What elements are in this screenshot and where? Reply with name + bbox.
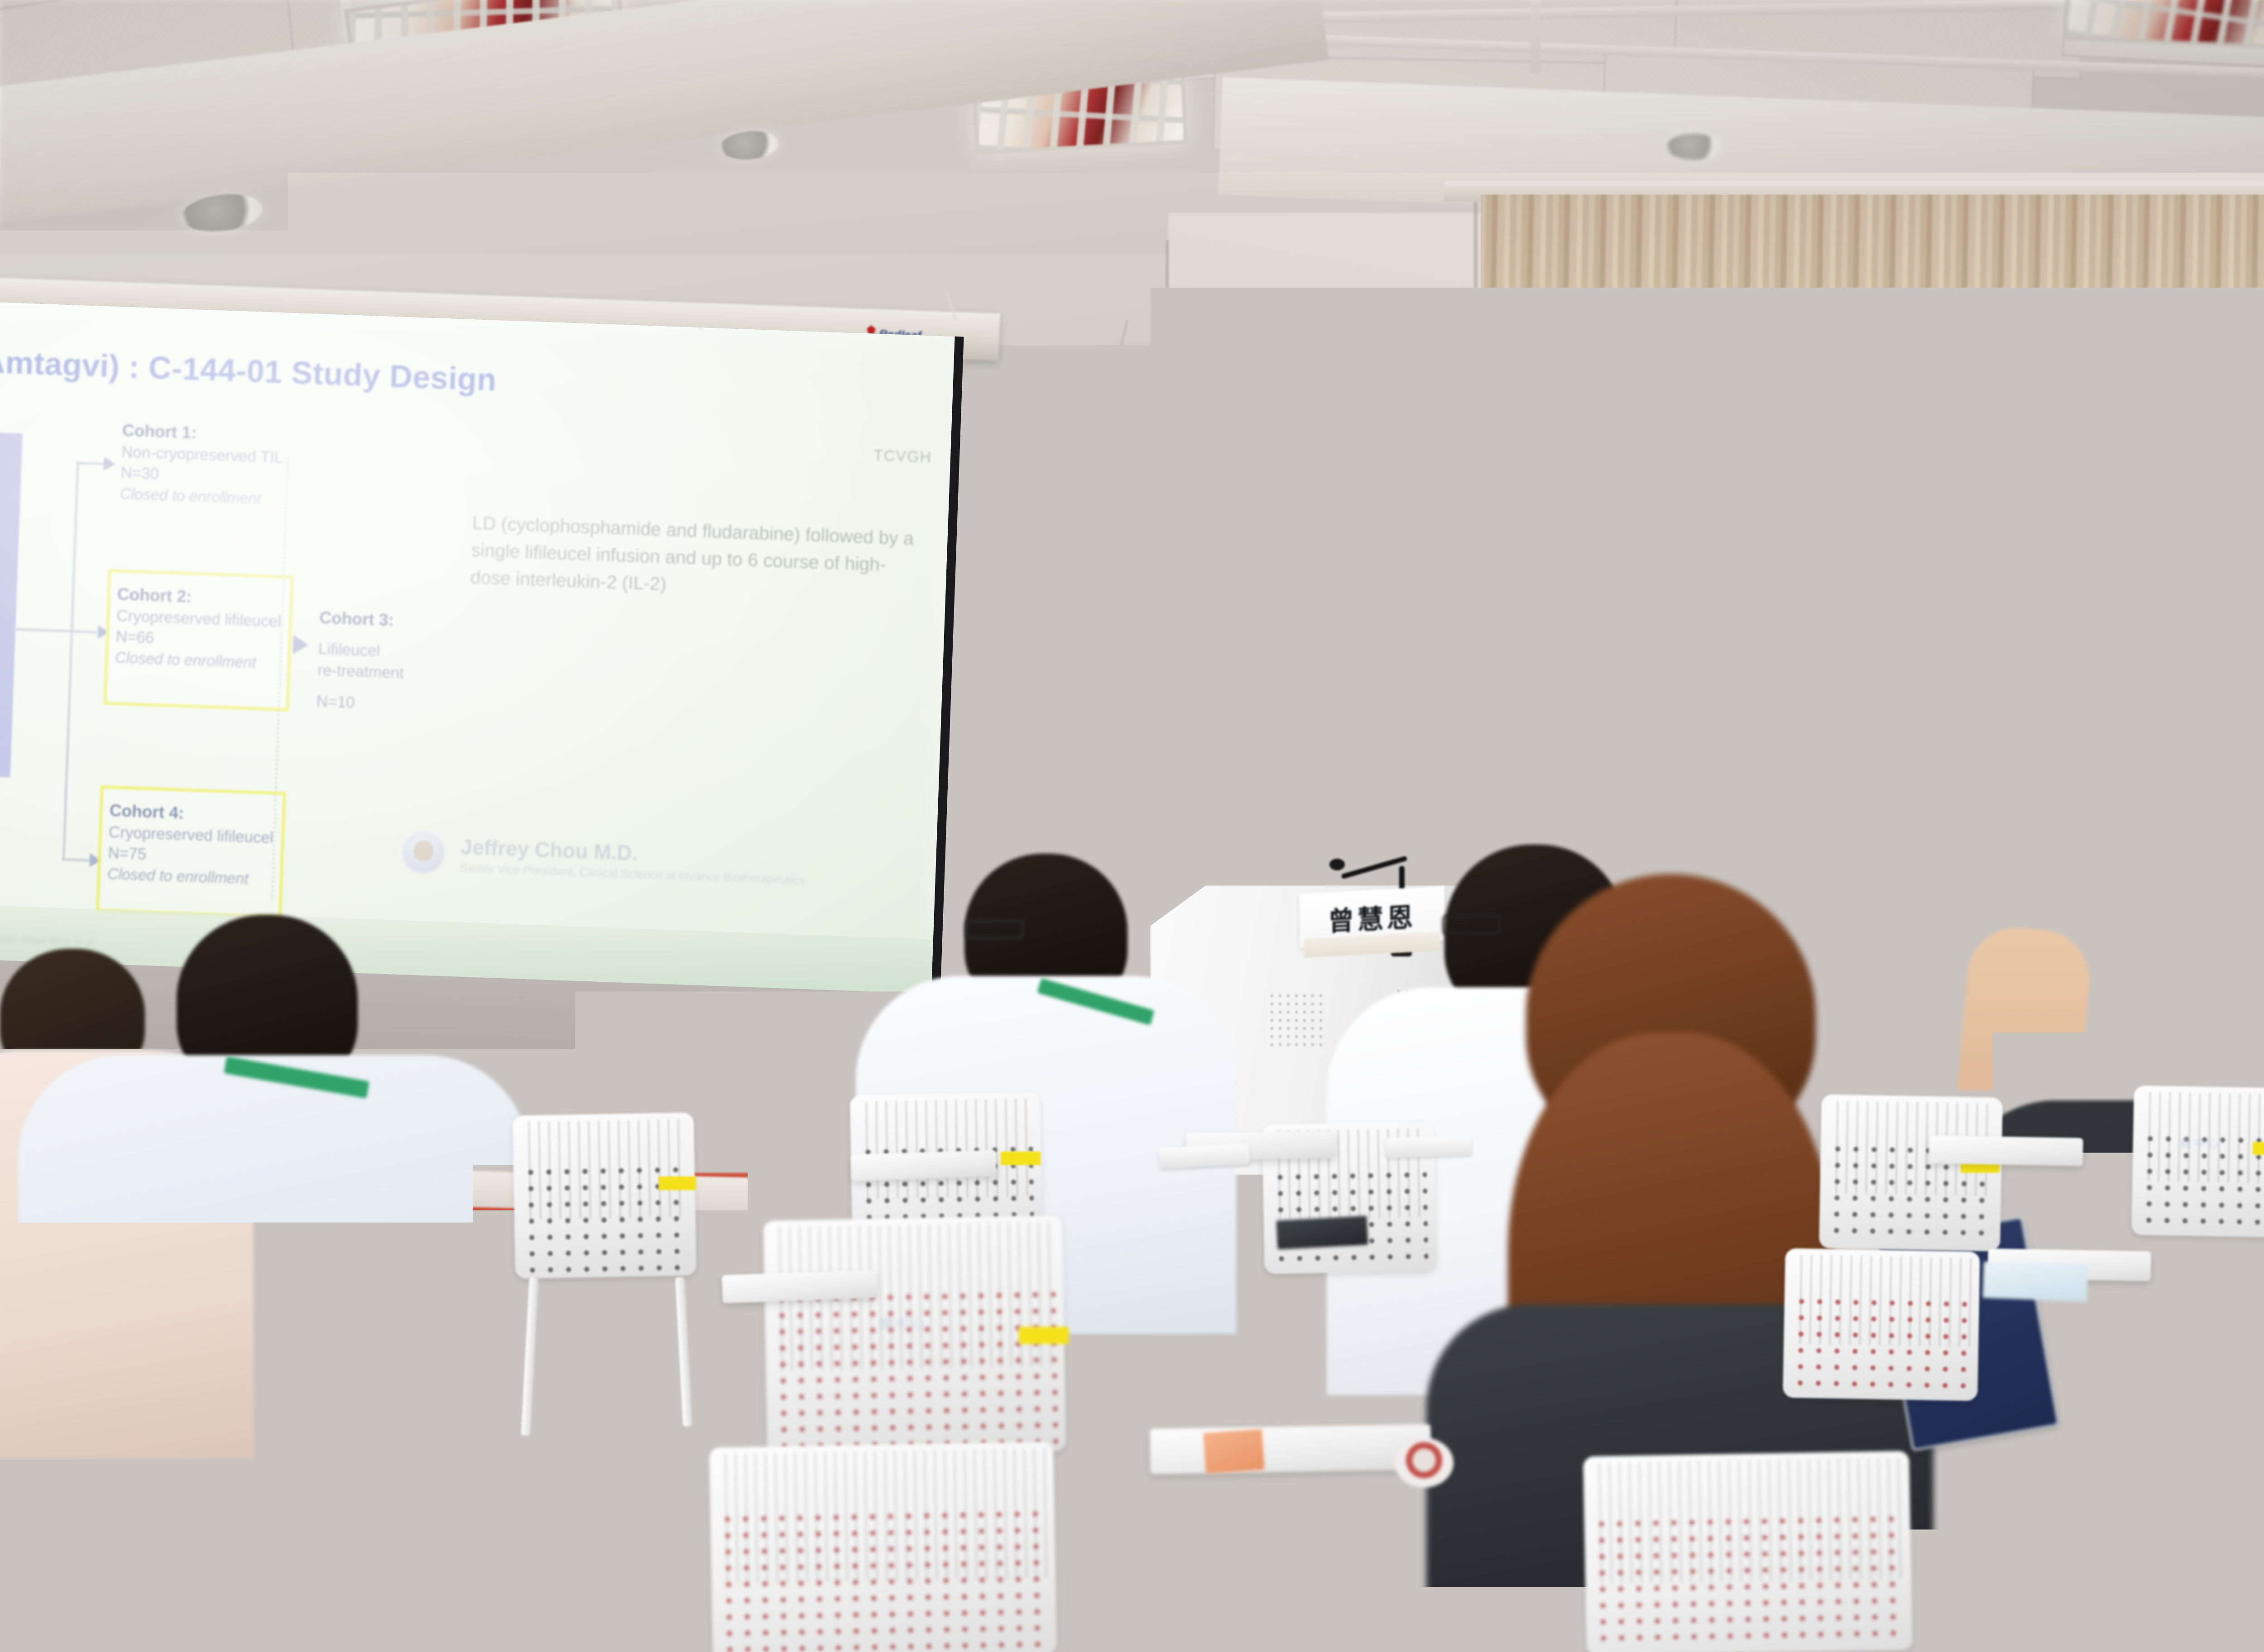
tablet-arm-desk [1928,1135,2083,1166]
chair-stencil-text: 體中心 [2180,1134,2221,1150]
cohort-block-4: Cohort 4: Cryopreserved lifileucel N=75 … [107,799,282,891]
podium-microphone-head [1329,859,1345,870]
chair-seat-tag [1019,1327,1069,1344]
slide-org-watermark: TCVGH [873,447,932,467]
speaker-name: Jeffrey Chou M.D. [460,835,638,865]
ceiling-beam [1530,0,1540,72]
cohort-3-n: N=10 [316,691,452,717]
flow-connector-horizontal [15,628,97,633]
speaker-nameplate-text: 曾慧恩 [1328,896,1416,938]
tablet-arm-desk [1870,1388,2124,1436]
flow-arrow-cohort-1 [104,457,116,471]
slide-left-panel: 01 t, r study d in th ble or ) treated d… [0,429,23,778]
chair-seat-tag [659,1177,696,1190]
chair-back [1783,1248,1980,1401]
speaker-avatar [401,830,446,874]
chair-back [1583,1451,1913,1652]
eyeglasses-icon [1442,915,1501,935]
flow-connector-horizontal [62,858,92,861]
flow-connector-horizontal [77,462,106,465]
laptop-on-desk [1276,1216,1368,1249]
chair-stencil-text: 體中心 [878,1313,927,1333]
chair-perforations [718,1506,1048,1652]
cohort-3-label: Lifileucel re-treatment [317,639,454,686]
tablet-arm-desk [851,1150,997,1181]
chair-perforations [772,1287,1058,1452]
jacket-over-chair [27,1304,571,1652]
handout-paper [1203,1429,1265,1474]
cohort-block-1: Cohort 1: Non-cryopreserved TIL N=30 Clo… [120,419,286,510]
slide-speaker-card: Jeffrey Chou M.D. Senior Vice President,… [401,829,900,896]
tablet-arm-desk [722,1270,877,1303]
treatment-regimen-text: LD (cyclophosphamide and fludarabine) fo… [470,509,926,607]
light-grille [2067,0,2264,47]
podium-speaker-grille [1268,992,1327,1051]
chair-back [1819,1095,2003,1252]
flow-connector-vertical [62,462,79,860]
chair-back [513,1113,696,1279]
chair-writing-arm [1385,1135,1472,1158]
chair-seat-tag [2253,1142,2264,1155]
slide-title: ucel (Amtagvi) : C-144-01 Study Design [0,341,677,404]
cohort-3-heading: Cohort 3: [319,607,456,634]
chair-back [709,1441,1057,1652]
cohort-block-2: Cohort 2: Cryopreserved lifileucel N=66 … [115,583,290,674]
chair-perforations [1791,1293,1971,1397]
projection-screen: ucel (Amtagvi) : C-144-01 Study Design T… [0,301,955,994]
chair-back [2131,1085,2264,1238]
flow-arrow-cohort-3 [293,635,309,654]
eyeglasses-icon [965,919,1024,939]
tablet-arm-desk [1150,1424,1431,1474]
handout-paper [1395,1438,1453,1488]
chair-seat-tag [1001,1152,1041,1165]
document-stack [1983,1262,2088,1301]
cohort-block-3: Cohort 3: Lifileucel re-treatment N=10 [316,597,456,727]
presenter-microphone-head [1086,748,1101,760]
wall-speaker [1105,349,1186,473]
chair-perforations [1592,1511,1904,1651]
lecture-room-photo: Redleaf ucel (Amtagvi) : C-144-01 Study … [0,0,2264,1652]
recessed-downlight [1666,134,1721,160]
